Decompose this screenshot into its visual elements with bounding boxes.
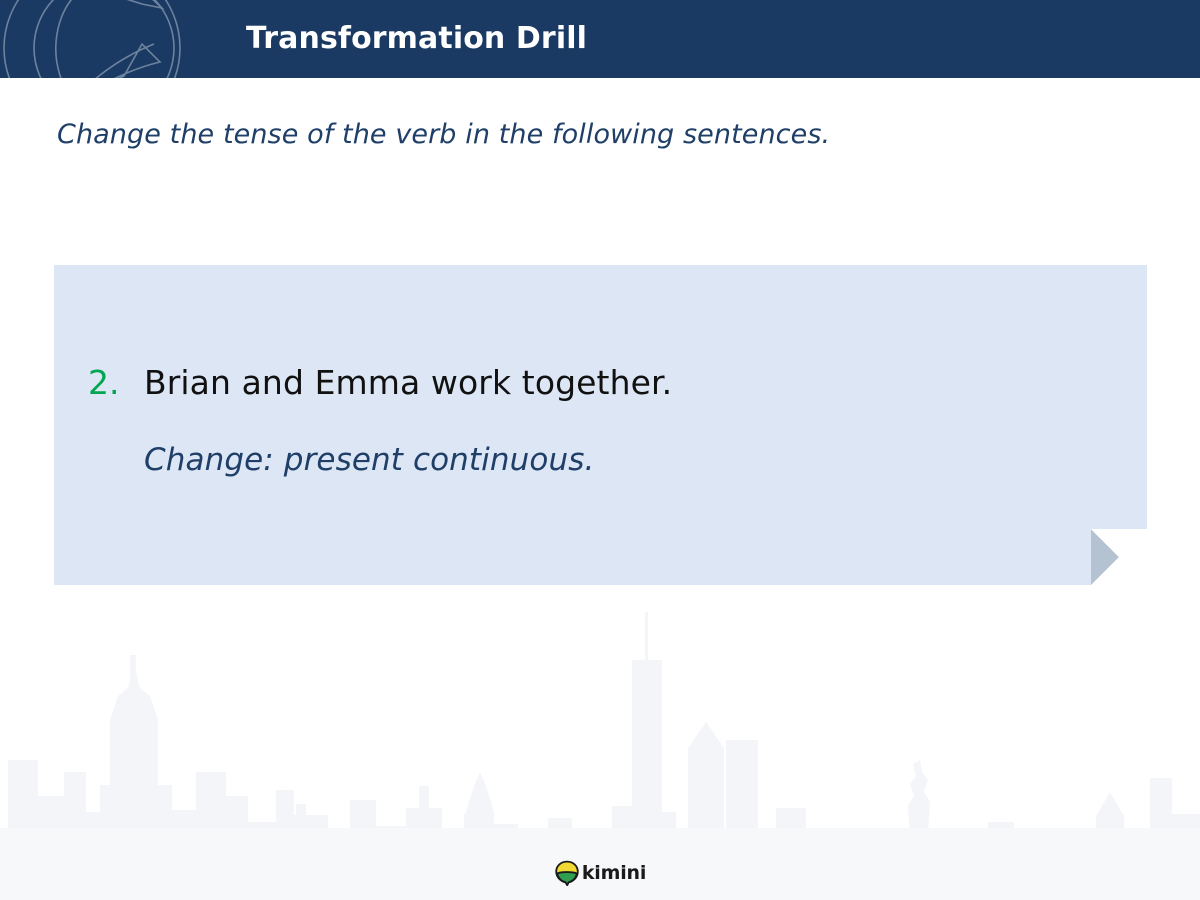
slide: Transformation Drill Change the tense of… <box>0 0 1200 900</box>
footer-brand: kimini <box>0 860 1200 886</box>
slide-header: Transformation Drill <box>0 0 1200 78</box>
question-body: Brian and Emma work together. Change: pr… <box>144 360 672 481</box>
footer-brand-name: kimini <box>582 860 646 886</box>
page-fold-inner <box>1091 529 1147 585</box>
page-title: Transformation Drill <box>246 0 587 78</box>
instruction-text: Change the tense of the verb in the foll… <box>57 119 830 150</box>
kimini-g-watermark-icon <box>0 0 192 78</box>
question-card: 2. Brian and Emma work together. Change:… <box>54 265 1147 585</box>
question-number: 2. <box>88 360 144 406</box>
question-change-instruction: Change: present continuous. <box>144 439 672 481</box>
page-fold-corner <box>1091 529 1147 585</box>
question-row: 2. Brian and Emma work together. Change:… <box>88 360 672 481</box>
kimini-balloon-icon <box>554 860 580 886</box>
question-sentence: Brian and Emma work together. <box>144 360 672 406</box>
